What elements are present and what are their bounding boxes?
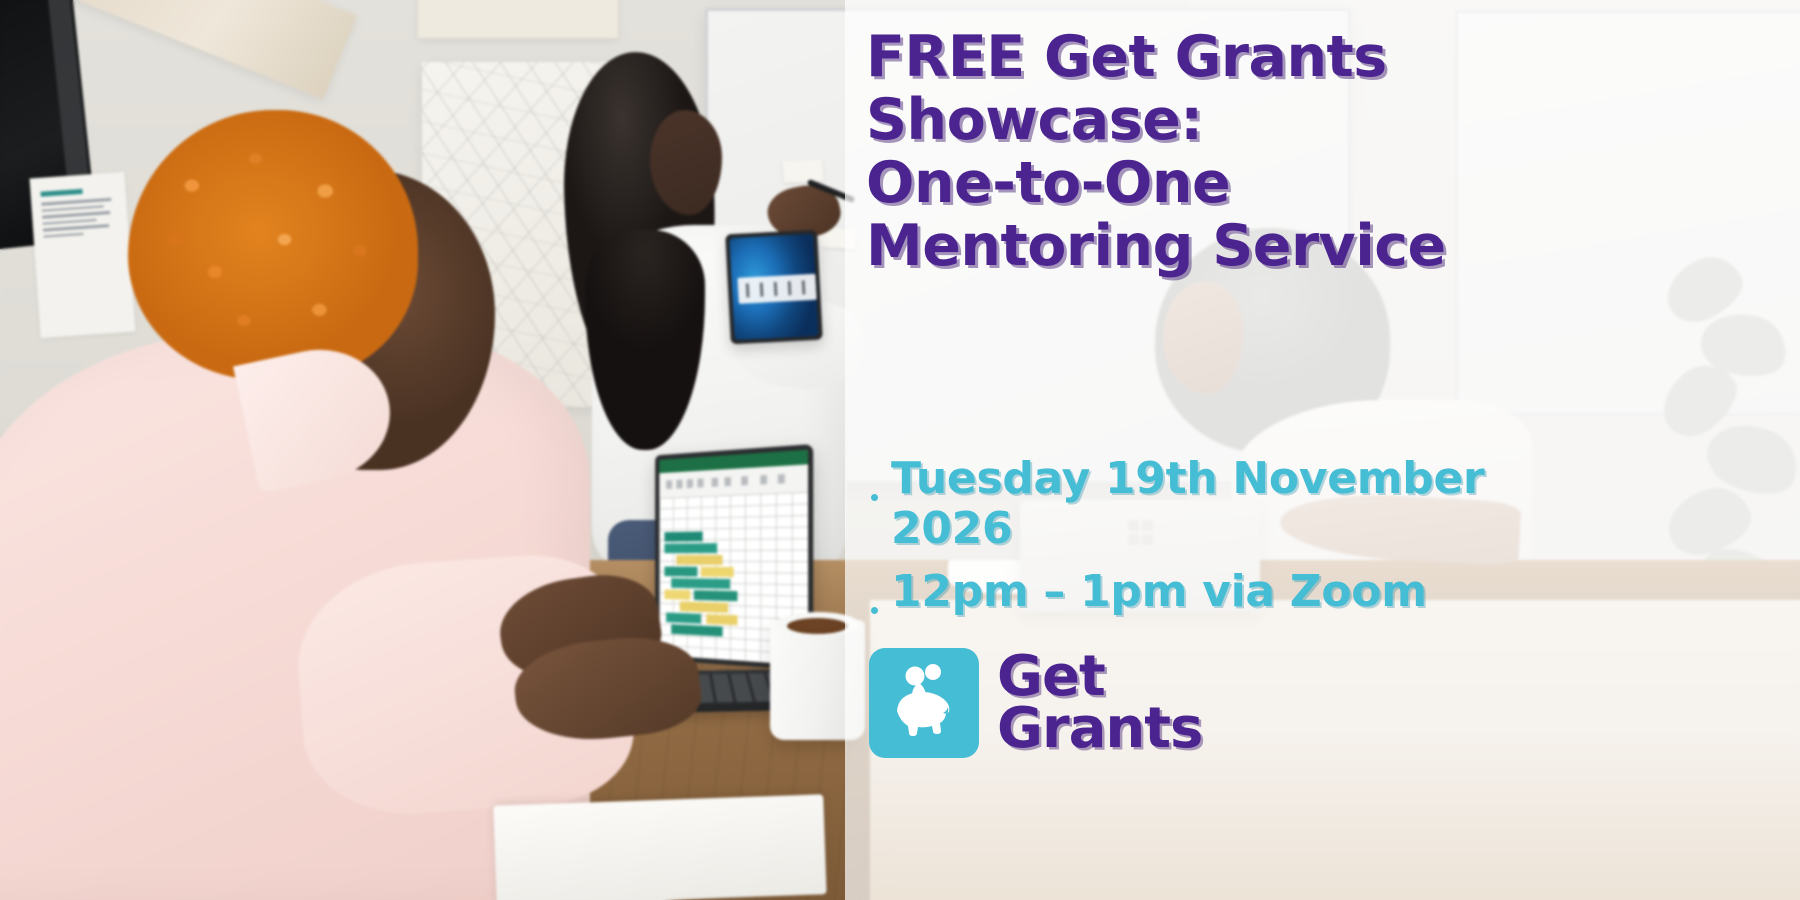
logo-word-grants: Grants	[997, 696, 1202, 761]
page-title: FREE Get Grants Showcase: One-to-One Men…	[866, 26, 1506, 278]
tablet-device	[725, 230, 823, 345]
text-overlay-panel: FREE Get Grants Showcase: One-to-One Men…	[845, 0, 1800, 900]
wall-art-top	[418, 0, 618, 38]
wall-poster	[30, 172, 136, 338]
event-time: 12pm – 1pm via Zoom	[891, 566, 1427, 617]
list-item: 12pm – 1pm via Zoom	[857, 567, 1497, 617]
bullet-dot-icon	[871, 494, 878, 501]
logo-wordmark: Get Grants	[997, 651, 1202, 755]
event-date: Tuesday 19th November 2026	[891, 453, 1484, 554]
tablet-toolbar	[737, 274, 816, 304]
list-item: Tuesday 19th November 2026	[857, 454, 1497, 553]
headline-line-3: One-to-One	[866, 150, 1230, 216]
event-banner: FREE Get Grants Showcase: One-to-One Men…	[0, 0, 1800, 900]
coffee-liquid	[787, 618, 848, 634]
piggy-bank-icon	[869, 648, 979, 758]
person-typing-hair	[128, 110, 418, 380]
get-grants-logo: Get Grants	[869, 648, 1202, 758]
bullet-dot-icon	[871, 607, 878, 614]
headline-line-1: FREE Get Grants	[866, 24, 1387, 90]
headline-line-2: Showcase:	[866, 87, 1203, 153]
notebook	[493, 794, 826, 900]
person-standing-face	[650, 110, 722, 215]
tablet-screen	[729, 234, 818, 340]
event-details-list: Tuesday 19th November 2026 12pm – 1pm vi…	[857, 454, 1497, 617]
headline-line-4: Mentoring Service	[866, 213, 1446, 279]
sticky-note	[782, 159, 823, 183]
